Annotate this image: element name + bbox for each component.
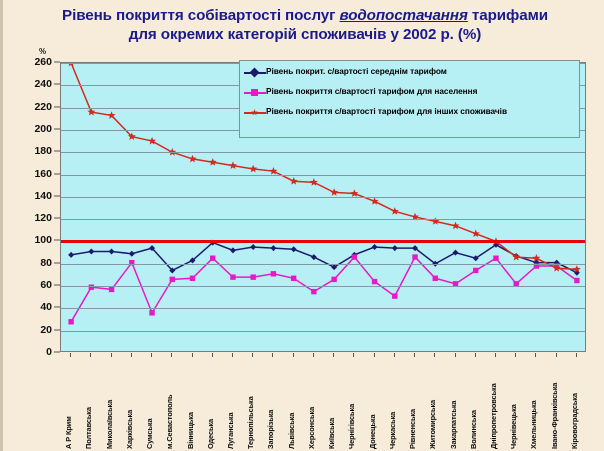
x-tick-label-25: Кіровоградська — [570, 393, 579, 449]
data-point-2-12 — [310, 178, 318, 186]
x-tick-mark-12 — [313, 353, 314, 357]
data-point-2-24 — [553, 264, 561, 272]
y-tick-label-100: 100 — [34, 234, 52, 246]
x-axis-labels: А Р КримПолтавськаМиколаївськаХарківська… — [60, 353, 586, 449]
x-tick-label-9: Тернопільська — [246, 396, 255, 449]
data-point-1-17 — [412, 254, 417, 259]
data-point-2-7 — [209, 158, 217, 166]
data-point-0-2 — [109, 249, 115, 255]
y-tick-label-80: 80 — [40, 257, 52, 269]
data-point-2-11 — [290, 177, 298, 185]
data-point-0-19 — [453, 250, 459, 256]
x-tick-mark-23 — [535, 353, 536, 357]
data-point-1-2 — [109, 287, 114, 292]
x-tick-mark-10 — [272, 353, 273, 357]
x-tick-mark-11 — [293, 353, 294, 357]
data-point-2-10 — [269, 167, 277, 175]
y-tick-label-20: 20 — [40, 324, 52, 336]
x-tick-label-10: Запорізька — [266, 410, 275, 449]
gridline-20 — [61, 331, 585, 332]
series-line-0 — [71, 243, 577, 273]
x-tick-mark-20 — [475, 353, 476, 357]
data-point-0-10 — [270, 245, 276, 251]
x-tick-label-17: Рівненська — [408, 409, 417, 449]
gridline-180 — [61, 152, 585, 153]
x-tick-label-23: Хмельницька — [529, 400, 538, 449]
x-tick-label-8: Луганська — [226, 412, 235, 449]
x-tick-label-13: Київська — [327, 418, 336, 449]
data-point-1-6 — [190, 276, 195, 281]
data-point-2-15 — [371, 197, 379, 205]
legend-marker-square-icon — [244, 87, 266, 98]
gridline-60 — [61, 286, 585, 287]
title-emphasis: водопостачання — [340, 7, 468, 24]
x-tick-label-11: Львівська — [287, 413, 296, 449]
x-tick-mark-3 — [131, 353, 132, 357]
x-tick-label-5: м.Севастополь — [165, 395, 174, 449]
data-point-1-14 — [352, 254, 357, 259]
data-point-1-8 — [230, 274, 235, 279]
data-point-0-16 — [392, 245, 398, 251]
y-tick-label-140: 140 — [34, 190, 52, 202]
data-point-0-0 — [68, 252, 74, 258]
page-title: Рівень покриття собівартості послуг водо… — [17, 6, 593, 44]
title-line2: для окремих категорій споживачів у 2002 … — [129, 26, 481, 43]
y-tick-label-0: 0 — [46, 346, 52, 358]
legend-label-2: Рівень покриття с/вартості тарифом для і… — [266, 106, 507, 117]
data-point-0-12 — [311, 254, 317, 260]
data-point-1-20 — [473, 268, 478, 273]
y-tick-label-40: 40 — [40, 301, 52, 313]
reference-line-100 — [61, 240, 585, 243]
x-tick-mark-4 — [151, 353, 152, 357]
series-1 — [68, 254, 579, 324]
x-tick-mark-25 — [576, 353, 577, 357]
x-tick-mark-9 — [252, 353, 253, 357]
y-tick-label-240: 240 — [34, 78, 52, 90]
data-point-1-12 — [311, 289, 316, 294]
data-point-1-16 — [392, 293, 397, 298]
data-point-0-1 — [88, 249, 94, 255]
title-line1-part2: тарифами — [468, 7, 548, 24]
data-point-1-0 — [68, 319, 73, 324]
x-tick-label-15: Донецька — [368, 414, 377, 449]
x-tick-mark-1 — [90, 353, 91, 357]
series-0 — [68, 240, 580, 276]
y-tick-label-180: 180 — [34, 145, 52, 157]
x-tick-mark-13 — [333, 353, 334, 357]
data-point-0-9 — [250, 244, 256, 250]
data-point-1-5 — [170, 277, 175, 282]
data-point-0-3 — [129, 251, 135, 257]
data-point-1-4 — [149, 310, 154, 315]
x-tick-label-3: Харківська — [125, 410, 134, 449]
data-point-1-7 — [210, 255, 215, 260]
x-tick-mark-22 — [515, 353, 516, 357]
gridline-80 — [61, 264, 585, 265]
data-point-1-13 — [331, 277, 336, 282]
x-tick-label-24: Івано-Франківська — [550, 383, 559, 449]
data-point-0-15 — [372, 244, 378, 250]
legend-marker-star-icon — [244, 107, 266, 118]
x-tick-label-16: Черкаська — [388, 412, 397, 449]
legend-label-0: Рівень покрит. с/вартості середнім тариф… — [266, 66, 447, 77]
y-tick-label-220: 220 — [34, 101, 52, 113]
x-tick-label-14: Чернігівська — [347, 404, 356, 449]
x-tick-mark-6 — [192, 353, 193, 357]
series-line-1 — [71, 257, 577, 322]
data-point-1-10 — [271, 271, 276, 276]
x-tick-label-4: Сумська — [145, 419, 154, 449]
x-tick-label-21: Дніпропетровська — [489, 383, 498, 449]
y-axis-unit: % — [39, 47, 46, 56]
x-tick-label-7: Одеська — [206, 419, 215, 449]
x-tick-label-19: Закарпатська — [449, 401, 458, 449]
x-tick-mark-5 — [171, 353, 172, 357]
data-point-2-6 — [189, 155, 197, 163]
data-point-2-8 — [229, 161, 237, 169]
y-tick-label-60: 60 — [40, 279, 52, 291]
x-tick-mark-14 — [353, 353, 354, 357]
x-tick-mark-8 — [232, 353, 233, 357]
data-point-0-8 — [230, 247, 236, 253]
data-point-1-21 — [493, 255, 498, 260]
data-point-2-14 — [350, 189, 358, 197]
chart-legend: Рівень покрит. с/вартості середнім тариф… — [239, 60, 580, 138]
y-tick-label-120: 120 — [34, 212, 52, 224]
x-tick-mark-24 — [556, 353, 557, 357]
x-tick-mark-16 — [394, 353, 395, 357]
gridline-160 — [61, 175, 585, 176]
data-point-0-11 — [291, 246, 297, 252]
data-point-1-25 — [574, 278, 579, 283]
slide-frame: Рівень покриття собівартості послуг водо… — [0, 0, 604, 451]
data-point-1-18 — [433, 276, 438, 281]
x-tick-label-22: Чернівецька — [509, 404, 518, 449]
x-tick-mark-18 — [434, 353, 435, 357]
x-tick-label-18: Житомирська — [428, 400, 437, 449]
data-point-2-1 — [87, 108, 95, 116]
x-tick-mark-19 — [455, 353, 456, 357]
data-point-2-20 — [472, 229, 480, 237]
x-tick-mark-2 — [111, 353, 112, 357]
data-point-1-15 — [372, 279, 377, 284]
gridline-120 — [61, 219, 585, 220]
x-tick-label-12: Херсонська — [307, 407, 316, 449]
data-point-1-11 — [291, 276, 296, 281]
data-point-2-19 — [452, 222, 460, 230]
x-tick-mark-0 — [70, 353, 71, 357]
legend-item-2[interactable]: Рівень покриття с/вартості тарифом для і… — [244, 106, 575, 119]
x-tick-label-1: Полтавська — [84, 407, 93, 449]
y-axis: 020406080100120140160180200220240260 — [3, 56, 60, 356]
x-tick-mark-21 — [495, 353, 496, 357]
x-tick-label-2: Миколаївська — [105, 400, 114, 449]
x-tick-mark-7 — [212, 353, 213, 357]
data-point-2-9 — [249, 165, 257, 173]
legend-marker-diamond-icon — [244, 67, 266, 78]
x-tick-mark-17 — [414, 353, 415, 357]
title-line1-part1: Рівень покриття собівартості послуг — [62, 7, 339, 24]
data-point-2-13 — [330, 188, 338, 196]
x-tick-mark-15 — [374, 353, 375, 357]
y-tick-label-260: 260 — [34, 56, 52, 68]
x-tick-label-6: Вінницька — [186, 412, 195, 449]
x-tick-label-20: Волинська — [469, 410, 478, 449]
y-tick-label-160: 160 — [34, 168, 52, 180]
legend-item-0[interactable]: Рівень покрит. с/вартості середнім тариф… — [244, 66, 575, 79]
legend-label-1: Рівень покриття с/вартості тарифом для н… — [266, 86, 477, 97]
gridline-40 — [61, 308, 585, 309]
x-tick-label-0: А Р Крим — [64, 416, 73, 449]
data-point-1-9 — [250, 274, 255, 279]
gridline-140 — [61, 197, 585, 198]
y-tick-label-200: 200 — [34, 123, 52, 135]
data-point-2-16 — [391, 207, 399, 215]
legend-item-1[interactable]: Рівень покриття с/вартості тарифом для н… — [244, 86, 575, 99]
